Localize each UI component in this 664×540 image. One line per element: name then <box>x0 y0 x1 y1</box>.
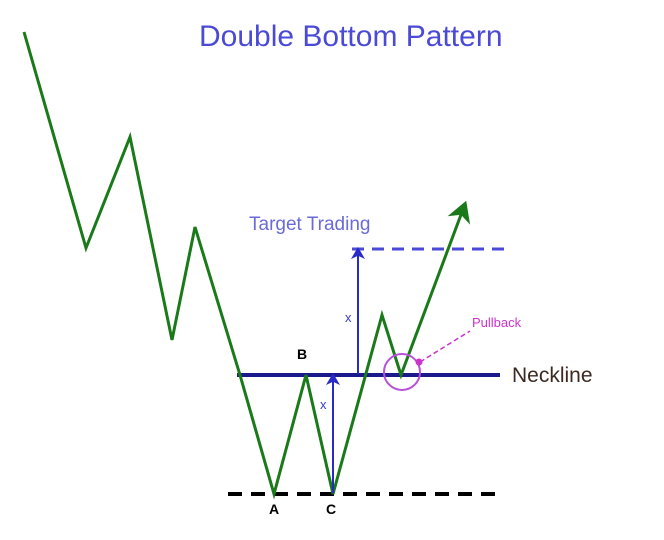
measure-label-lower: x <box>320 398 327 411</box>
neckline-label: Neckline <box>512 365 593 386</box>
pullback-leader-line <box>420 331 470 362</box>
page-title: Double Bottom Pattern <box>199 22 503 52</box>
double-bottom-chart: Double Bottom Pattern Target Trading Nec… <box>0 0 664 540</box>
chart-canvas <box>0 0 664 540</box>
point-label-a: A <box>269 502 279 516</box>
pullback-anchor-dot <box>416 359 423 366</box>
point-label-b: B <box>297 347 307 361</box>
target-trading-label: Target Trading <box>249 215 370 234</box>
price-action-line <box>24 32 462 494</box>
pullback-label: Pullback <box>472 316 521 329</box>
measure-label-upper: x <box>345 311 352 324</box>
point-label-c: C <box>326 502 336 516</box>
